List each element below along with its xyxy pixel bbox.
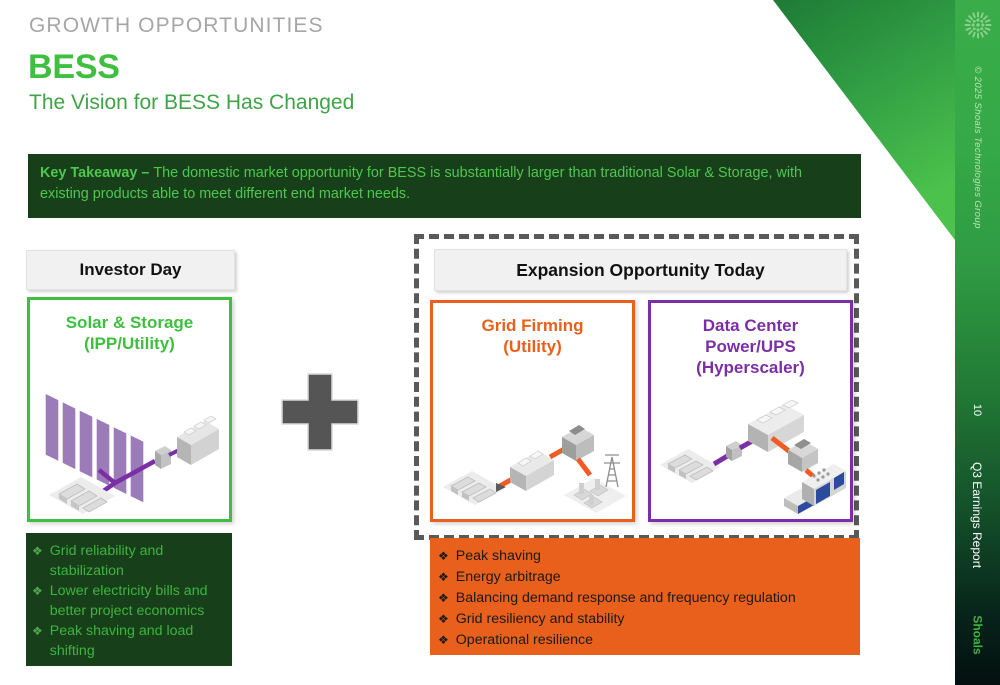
list-item-label: Grid resiliency and stability [456, 609, 625, 629]
card-data-center-title-line3: (Hyperscaler) [651, 357, 850, 378]
investor-day-benefits-box: ❖ Grid reliability and stabilization ❖ L… [26, 533, 232, 666]
list-item-label: Operational resilience [456, 630, 593, 650]
card-data-center: Data Center Power/UPS (Hyperscaler) [648, 300, 853, 522]
key-takeaway-text: The domestic market opportunity for BESS… [40, 165, 802, 202]
bullet-diamond-icon: ❖ [32, 621, 43, 641]
card-data-center-title-line1: Data Center [651, 315, 850, 336]
card-solar-storage: Solar & Storage (IPP/Utility) [27, 297, 232, 522]
expansion-opportunity-header: Expansion Opportunity Today [434, 249, 847, 291]
card-data-center-title-line2: Power/UPS [651, 336, 850, 357]
card-solar-storage-title-line2: (IPP/Utility) [30, 333, 229, 354]
bullet-diamond-icon: ❖ [32, 581, 43, 601]
list-item-label: Energy arbitrage [456, 567, 561, 587]
investor-day-header: Investor Day [26, 250, 235, 290]
list-item: ❖ Grid resiliency and stability [438, 609, 852, 629]
key-takeaway-label: Key Takeaway – [40, 165, 153, 181]
list-item: ❖ Peak shaving [438, 546, 852, 566]
page-title: BESS [28, 48, 120, 87]
list-item: ❖ Peak shaving and load shifting [32, 621, 224, 661]
expansion-benefits-box: ❖ Peak shaving ❖ Energy arbitrage ❖ Bala… [430, 538, 860, 655]
list-item-label: Lower electricity bills and better proje… [50, 581, 224, 621]
sidebar-page-number-text: 10 [972, 404, 984, 416]
sidebar-brand-text: Shoals [970, 615, 984, 654]
card-data-center-illustration [651, 390, 850, 515]
right-sidebar: © 2025 Shoals Technologies Group 10 Q3 E… [955, 0, 1000, 685]
bullet-diamond-icon: ❖ [438, 630, 449, 650]
card-solar-storage-title-line1: Solar & Storage [30, 312, 229, 333]
card-solar-storage-illustration [30, 365, 229, 515]
card-grid-firming-illustration [433, 395, 632, 515]
key-takeaway-banner: Key Takeaway – The domestic market oppor… [28, 154, 861, 218]
card-data-center-title: Data Center Power/UPS (Hyperscaler) [651, 303, 850, 378]
list-item: ❖ Balancing demand response and frequenc… [438, 588, 852, 608]
investor-day-benefits-list: ❖ Grid reliability and stabilization ❖ L… [32, 541, 224, 661]
card-grid-firming-title: Grid Firming (Utility) [433, 303, 632, 357]
page-subtitle: The Vision for BESS Has Changed [29, 91, 354, 115]
bullet-diamond-icon: ❖ [438, 609, 449, 629]
list-item: ❖ Lower electricity bills and better pro… [32, 581, 224, 621]
eyebrow-label: GROWTH OPPORTUNITIES [29, 14, 324, 38]
slide: © 2025 Shoals Technologies Group 10 Q3 E… [0, 0, 1000, 685]
plus-sign-icon [280, 372, 360, 452]
sidebar-brand: Shoals [955, 600, 1000, 670]
data-center-illustration-icon [656, 390, 846, 515]
sidebar-page-number: 10 [955, 395, 1000, 425]
card-grid-firming-title-line1: Grid Firming [433, 315, 632, 336]
bullet-diamond-icon: ❖ [32, 541, 43, 561]
sidebar-report-title: Q3 Earnings Report [955, 440, 1000, 590]
grid-firming-illustration-icon [438, 395, 628, 515]
expansion-benefits-list: ❖ Peak shaving ❖ Energy arbitrage ❖ Bala… [438, 546, 852, 650]
solar-array-illustration-icon [37, 365, 222, 515]
list-item-label: Balancing demand response and frequency … [456, 588, 796, 608]
shoals-sunburst-logo-icon [963, 10, 993, 40]
list-item-label: Peak shaving and load shifting [50, 621, 224, 661]
sidebar-copyright-text: © 2025 Shoals Technologies Group [972, 66, 983, 229]
bullet-diamond-icon: ❖ [438, 567, 449, 587]
sidebar-copyright: © 2025 Shoals Technologies Group [955, 52, 1000, 242]
sidebar-report-title-text: Q3 Earnings Report [971, 462, 985, 568]
list-item: ❖ Grid reliability and stabilization [32, 541, 224, 581]
bullet-diamond-icon: ❖ [438, 546, 449, 566]
list-item-label: Grid reliability and stabilization [50, 541, 224, 581]
list-item-label: Peak shaving [456, 546, 541, 566]
card-solar-storage-title: Solar & Storage (IPP/Utility) [30, 300, 229, 354]
card-grid-firming-title-line2: (Utility) [433, 336, 632, 357]
list-item: ❖ Operational resilience [438, 630, 852, 650]
list-item: ❖ Energy arbitrage [438, 567, 852, 587]
card-grid-firming: Grid Firming (Utility) [430, 300, 635, 522]
bullet-diamond-icon: ❖ [438, 588, 449, 608]
